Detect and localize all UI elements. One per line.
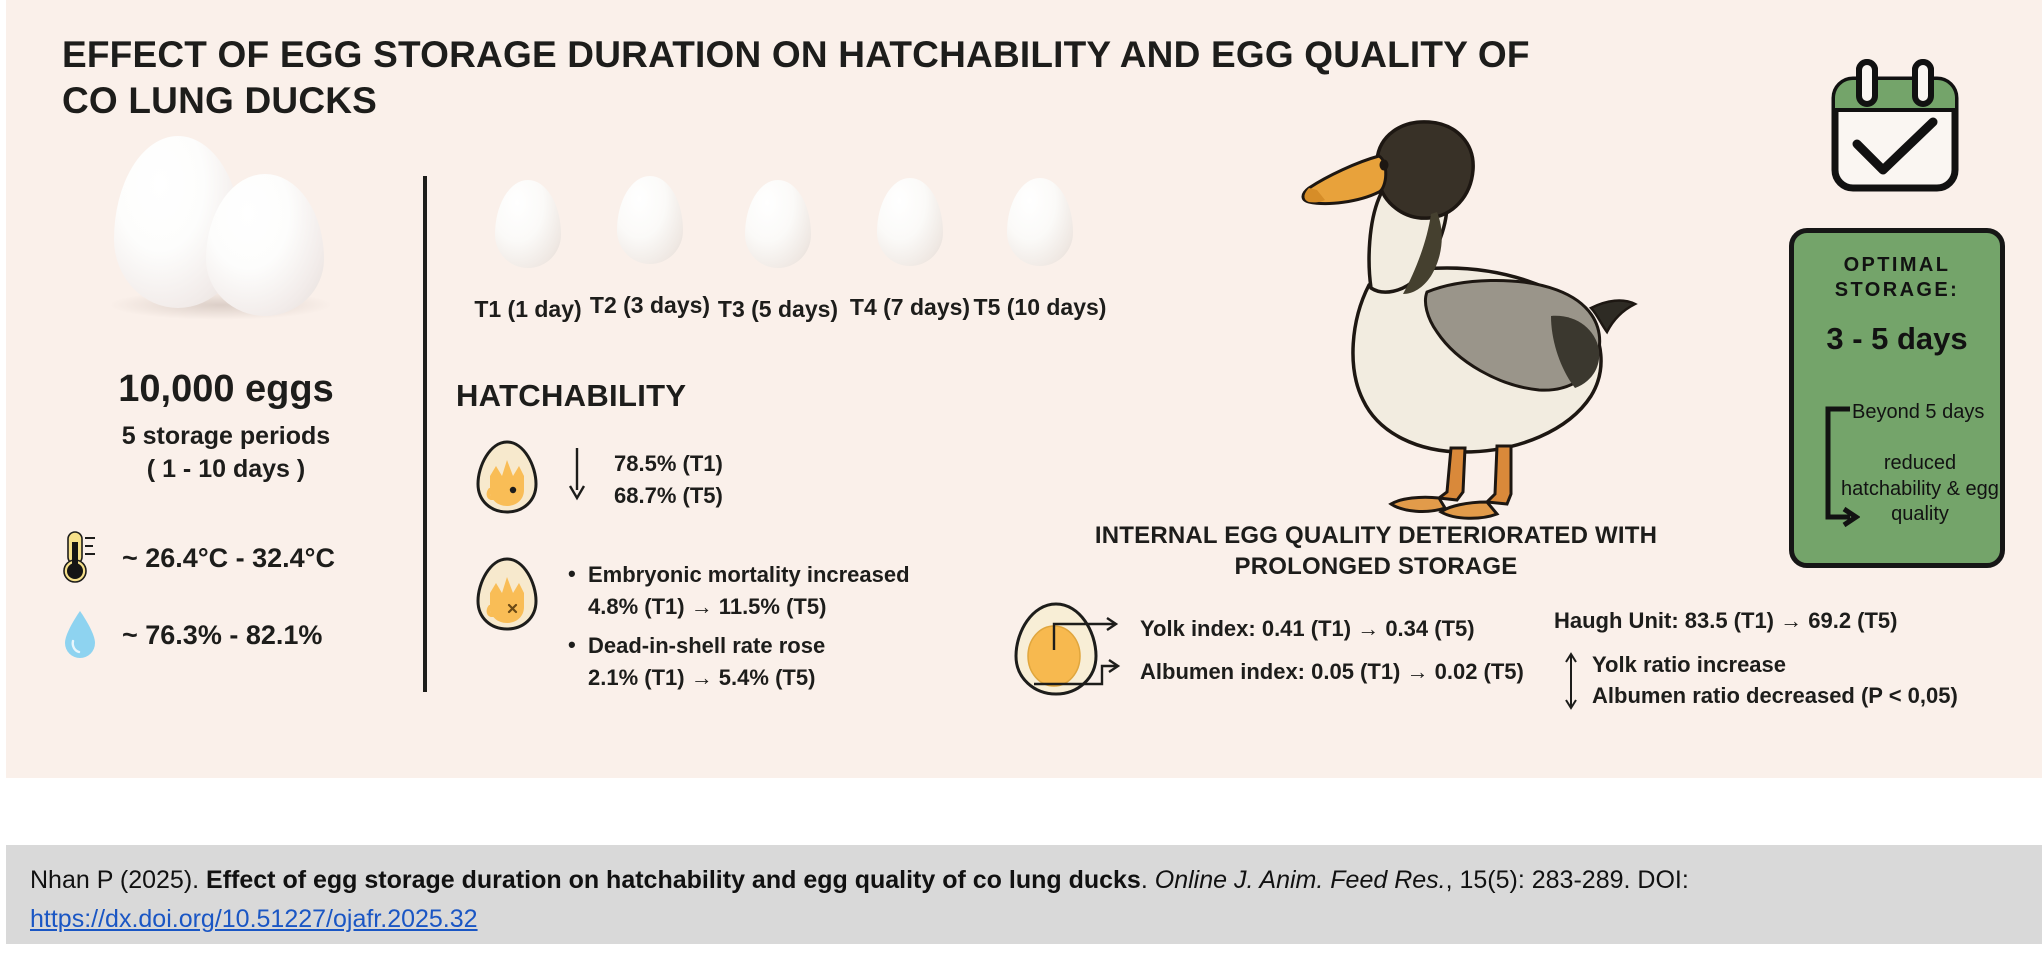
optimal-storage-box: OPTIMAL STORAGE: 3 - 5 days Beyond 5 day… bbox=[1789, 228, 2005, 568]
treatment-label: T2 (3 days) bbox=[580, 292, 720, 319]
temperature-value: ~ 26.4°C - 32.4°C bbox=[122, 543, 335, 574]
hatching-chick-icon bbox=[472, 438, 542, 516]
treatment-item-t3: T3 (5 days) bbox=[708, 180, 848, 323]
treatment-item-t2: T2 (3 days) bbox=[580, 176, 720, 319]
treatment-item-t4: T4 (7 days) bbox=[840, 178, 980, 321]
storage-periods-line2: ( 1 - 10 days ) bbox=[66, 453, 386, 486]
hatchability-rates-block: 78.5% (T1) 68.7% (T5) bbox=[472, 438, 723, 516]
temperature-row: ~ 26.4°C - 32.4°C bbox=[60, 530, 335, 586]
treatment-egg-icon bbox=[495, 180, 561, 268]
storage-periods-line1: 5 storage periods bbox=[66, 420, 386, 453]
optimal-storage-title: OPTIMAL STORAGE: bbox=[1794, 253, 2000, 303]
internal-quality-heading-line2: PROLONGED STORAGE bbox=[1056, 551, 1696, 582]
treatment-egg-icon bbox=[1007, 178, 1073, 266]
internal-quality-index-values: Yolk index: 0.41 (T1) → 0.34 (T5) Albume… bbox=[1140, 608, 1524, 694]
bullet-dead-in-shell-line2: 2.1% (T1) → 5.4% (T5) bbox=[588, 662, 910, 694]
haugh-unit-value: Haugh Unit: 83.5 (T1) → 69.2 (T5) bbox=[1554, 608, 1898, 634]
water-drop-icon bbox=[60, 608, 100, 662]
bullet-embryonic-mortality: Embryonic mortality increased 4.8% (T1) … bbox=[566, 559, 910, 623]
internal-quality-heading: INTERNAL EGG QUALITY DETERIORATED WITH P… bbox=[1056, 520, 1696, 582]
duck-illustration bbox=[1251, 100, 1641, 520]
hatchability-rate-t5: 68.7% (T5) bbox=[614, 480, 723, 512]
citation-authors: Nhan P (2025). bbox=[30, 866, 206, 894]
vertical-divider bbox=[423, 176, 427, 692]
humidity-row: ~ 76.3% - 82.1% bbox=[60, 608, 322, 662]
bullet-dead-in-shell-line1: Dead-in-shell rate rose bbox=[588, 630, 910, 662]
citation-bar: Nhan P (2025). Effect of egg storage dur… bbox=[6, 845, 2042, 944]
internal-quality-indices: Yolk index: 0.41 (T1) → 0.34 (T5) Albume… bbox=[1010, 598, 1524, 704]
calendar-check-icon bbox=[1823, 58, 1967, 198]
beyond-days-label: Beyond 5 days bbox=[1852, 401, 1984, 424]
treatment-label: T4 (7 days) bbox=[840, 294, 980, 321]
citation-doi-link[interactable]: https://dx.doi.org/10.51227/ojafr.2025.3… bbox=[30, 905, 478, 933]
internal-quality-heading-line1: INTERNAL EGG QUALITY DETERIORATED WITH bbox=[1056, 520, 1696, 551]
dead-chick-icon bbox=[472, 555, 542, 633]
treatment-label: T3 (5 days) bbox=[708, 296, 848, 323]
hatchability-bullets: Embryonic mortality increased 4.8% (T1) … bbox=[566, 555, 910, 701]
beyond-days-result: reduced hatchability & egg quality bbox=[1840, 451, 2000, 528]
storage-periods: 5 storage periods ( 1 - 10 days ) bbox=[66, 420, 386, 487]
hatchability-rate-t1: 78.5% (T1) bbox=[614, 448, 723, 480]
treatment-item-t5: T5 (10 days) bbox=[970, 178, 1110, 321]
albumen-ratio-trend: Albumen ratio decreased (P < 0,05) bbox=[1592, 681, 1958, 712]
treatment-egg-icon bbox=[877, 178, 943, 266]
hero-eggs-illustration bbox=[98, 130, 358, 315]
decrease-arrow-icon bbox=[566, 438, 588, 502]
bullet-embryonic-mortality-line1: Embryonic mortality increased bbox=[588, 559, 910, 591]
yolk-ratio-trend: Yolk ratio increase bbox=[1592, 650, 1958, 681]
treatment-item-t1: T1 (1 day) bbox=[458, 180, 598, 323]
treatment-label: T1 (1 day) bbox=[458, 296, 598, 323]
treatment-label: T5 (10 days) bbox=[970, 294, 1110, 321]
ratio-trends: Yolk ratio increase Albumen ratio decrea… bbox=[1562, 650, 1958, 712]
bullet-dead-in-shell: Dead-in-shell rate rose 2.1% (T1) → 5.4%… bbox=[566, 630, 910, 694]
citation-article-title: Effect of egg storage duration on hatcha… bbox=[206, 866, 1141, 894]
treatment-eggs-row: T1 (1 day) T2 (3 days) T3 (5 days) T4 (7… bbox=[458, 180, 1278, 335]
hatchability-rate-values: 78.5% (T1) 68.7% (T5) bbox=[614, 438, 723, 512]
albumen-index-value: Albumen index: 0.05 (T1) → 0.02 (T5) bbox=[1140, 651, 1524, 694]
bullet-embryonic-mortality-line2: 4.8% (T1) → 11.5% (T5) bbox=[588, 591, 910, 623]
thermometer-icon bbox=[60, 530, 100, 586]
treatment-egg-icon bbox=[617, 176, 683, 264]
egg-cross-section-icon bbox=[1010, 598, 1134, 704]
infographic-root: EFFECT OF EGG STORAGE DURATION ON HATCHA… bbox=[0, 0, 2042, 953]
hatchability-mortality-block: Embryonic mortality increased 4.8% (T1) … bbox=[472, 555, 910, 701]
eggs-count: 10,000 eggs bbox=[66, 368, 386, 411]
citation-journal: Online J. Anim. Feed Res. bbox=[1155, 866, 1446, 894]
yolk-index-value: Yolk index: 0.41 (T1) → 0.34 (T5) bbox=[1140, 608, 1524, 651]
ratio-trend-lines: Yolk ratio increase Albumen ratio decrea… bbox=[1592, 650, 1958, 712]
optimal-storage-days: 3 - 5 days bbox=[1826, 321, 1967, 357]
humidity-value: ~ 76.3% - 82.1% bbox=[122, 620, 322, 651]
citation-separator: . bbox=[1141, 866, 1155, 894]
up-down-arrows-icon bbox=[1562, 651, 1580, 711]
hatchability-heading: HATCHABILITY bbox=[456, 378, 686, 414]
citation-volume-pages: , 15(5): 283-289. DOI: bbox=[1446, 866, 1689, 894]
treatment-egg-icon bbox=[745, 180, 811, 268]
infographic-panel: EFFECT OF EGG STORAGE DURATION ON HATCHA… bbox=[6, 0, 2042, 778]
